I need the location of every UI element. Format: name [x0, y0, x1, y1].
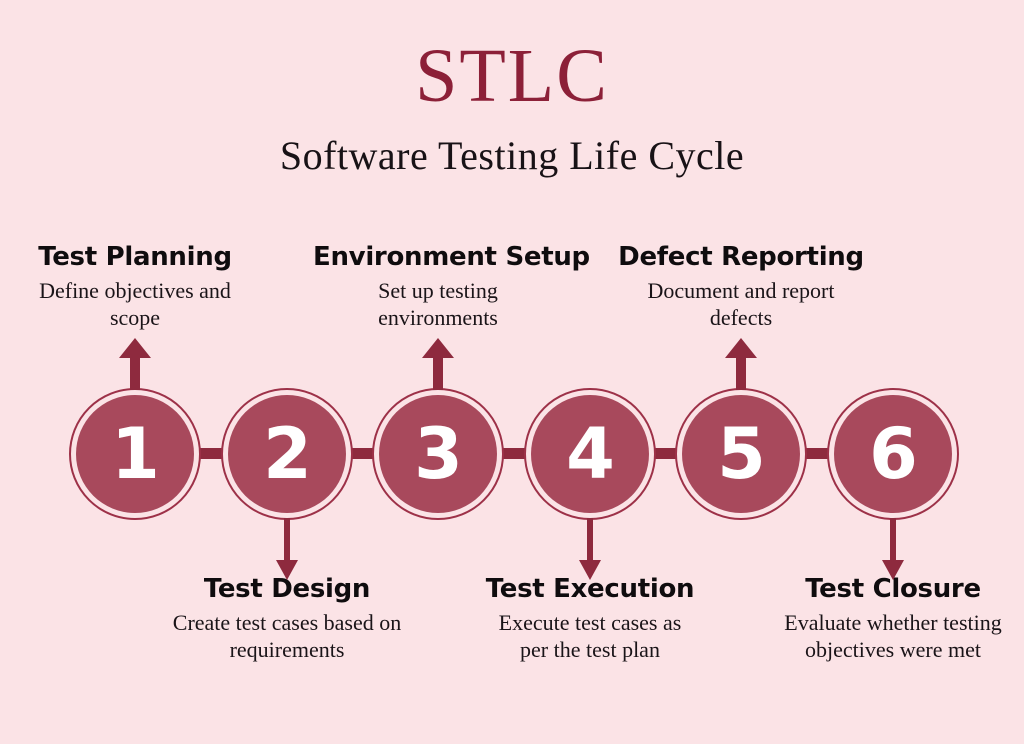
step-disc-6: 6 [834, 395, 952, 513]
step-description-1: Define objectives and scope [10, 277, 260, 332]
arrow-up-icon-step-5 [724, 338, 758, 390]
step-disc-5: 5 [682, 395, 800, 513]
step-number-1: 1 [111, 419, 159, 489]
step-number-6: 6 [869, 419, 917, 489]
page-title: STLC [0, 38, 1024, 114]
arrow-down-icon-step-4 [577, 518, 611, 580]
arrow-down-icon-step-2 [274, 518, 308, 580]
step-number-2: 2 [263, 419, 311, 489]
step-node-5[interactable]: 5 [675, 388, 807, 520]
arrow-down-icon-step-6 [880, 518, 914, 580]
step-description-2: Create test cases based on requirements [162, 609, 412, 664]
step-label-5: Defect ReportingDocument and report defe… [616, 243, 866, 332]
step-label-3: Environment SetupSet up testing environm… [313, 243, 563, 332]
arrow-up-icon-step-1 [118, 338, 152, 390]
step-node-2[interactable]: 2 [221, 388, 353, 520]
process-track: 123456 [0, 388, 1024, 520]
page-subtitle: Software Testing Life Cycle [0, 136, 1024, 176]
step-label-6: Test ClosureEvaluate whether testing obj… [768, 575, 1018, 664]
step-label-2: Test DesignCreate test cases based on re… [162, 575, 412, 664]
step-node-6[interactable]: 6 [827, 388, 959, 520]
step-disc-3: 3 [379, 395, 497, 513]
step-description-3: Set up testing environments [313, 277, 563, 332]
step-number-4: 4 [566, 419, 614, 489]
step-disc-1: 1 [76, 395, 194, 513]
header: STLC Software Testing Life Cycle [0, 38, 1024, 176]
arrow-up-icon-step-3 [421, 338, 455, 390]
step-heading-3: Environment Setup [313, 243, 563, 272]
step-heading-5: Defect Reporting [616, 243, 866, 272]
stlc-infographic: STLC Software Testing Life Cycle 123456 … [0, 0, 1024, 744]
step-number-5: 5 [717, 419, 765, 489]
step-disc-4: 4 [531, 395, 649, 513]
step-label-1: Test PlanningDefine objectives and scope [10, 243, 260, 332]
step-heading-1: Test Planning [10, 243, 260, 272]
step-node-1[interactable]: 1 [69, 388, 201, 520]
step-description-5: Document and report defects [616, 277, 866, 332]
step-node-4[interactable]: 4 [524, 388, 656, 520]
step-node-3[interactable]: 3 [372, 388, 504, 520]
step-disc-2: 2 [228, 395, 346, 513]
step-label-4: Test ExecutionExecute test cases as per … [465, 575, 715, 664]
step-description-4: Execute test cases as per the test plan [465, 609, 715, 664]
step-description-6: Evaluate whether testing objectives were… [768, 609, 1018, 664]
step-number-3: 3 [414, 419, 462, 489]
